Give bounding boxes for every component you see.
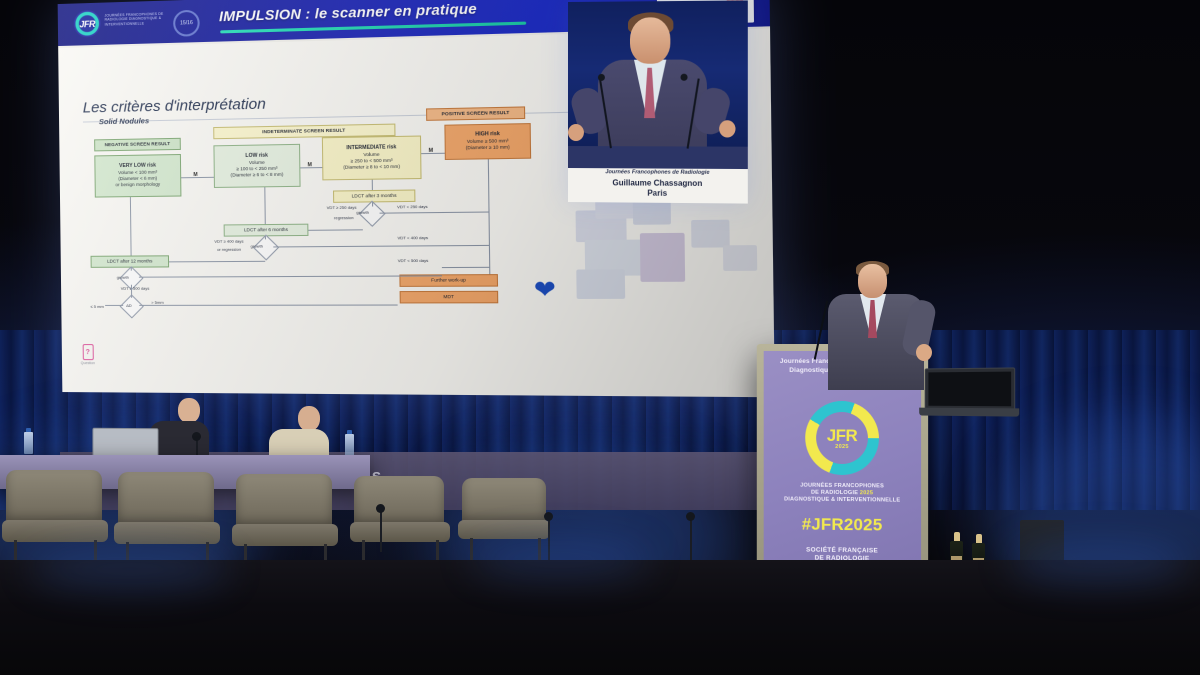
connector-ldct6-to-growth bbox=[308, 229, 362, 230]
video-speaker-head bbox=[630, 17, 670, 64]
connector-ldct12-down bbox=[131, 268, 132, 271]
edge-label-vdt-lt-400: VDT < 400 days bbox=[388, 235, 437, 241]
question-mark-icon: ? bbox=[82, 344, 93, 360]
water-bottle-right bbox=[345, 430, 354, 456]
slide-timer-ring: 15/16 bbox=[173, 10, 200, 37]
jfr-logo-icon: JFR bbox=[74, 10, 101, 38]
jfr-2025-logo-icon: JFR 2025 bbox=[805, 401, 879, 475]
slide-title: Les critères d'interprétation bbox=[83, 95, 266, 116]
edge-label-or-regression: or regression bbox=[203, 247, 254, 252]
floor-microphone-head-2 bbox=[544, 512, 553, 521]
connector-intermediate-down bbox=[372, 180, 373, 190]
flow-section-label: Solid Nodules bbox=[99, 116, 149, 126]
video-microphone-left-head bbox=[598, 74, 605, 81]
edge-label-vdt-lt-250: VDT < 250 days bbox=[388, 204, 437, 210]
question-icon-caption: Question bbox=[80, 361, 96, 365]
panel-microphone-head bbox=[192, 432, 201, 441]
chair-back bbox=[354, 476, 444, 526]
podium-subtitle: JOURNÉES FRANCOPHONES DE RADIOLOGIE 2025… bbox=[764, 482, 921, 504]
chair-seat bbox=[350, 522, 450, 542]
connector-deltad-left bbox=[105, 305, 123, 306]
edge-label-regression-1: regression bbox=[323, 215, 365, 221]
floor-light-pool-left bbox=[30, 548, 230, 590]
floor-light-pool-center bbox=[470, 540, 650, 580]
connector-low-down bbox=[264, 187, 265, 224]
connector-growth3-right bbox=[139, 275, 442, 277]
chair-seat bbox=[2, 520, 108, 542]
connector-deltad-right bbox=[139, 305, 397, 306]
bottle-neck bbox=[976, 534, 982, 543]
video-speaker-right-hand bbox=[719, 120, 735, 137]
connector-growth3-down bbox=[131, 285, 132, 298]
flow-header-negative: NEGATIVE SCREEN RESULT bbox=[94, 138, 181, 152]
decision-delta-d-label: ΔD bbox=[126, 303, 132, 308]
flow-header-positive: POSITIVE SCREEN RESULT bbox=[426, 106, 525, 120]
video-caption-event: Journées Francophones de Radiologie bbox=[568, 169, 748, 176]
decision-growth-3-label: growth bbox=[117, 275, 129, 280]
flow-box-high-risk: HIGH risk Volume ≥ 500 mm³ (Diameter ≥ 1… bbox=[444, 123, 531, 160]
chair-back bbox=[118, 472, 214, 526]
jfr-logo-initials: JFR bbox=[79, 18, 95, 28]
floor-microphone-head-1 bbox=[376, 504, 385, 513]
moderator-1-head bbox=[178, 398, 200, 423]
floor-light-pool-right bbox=[1010, 540, 1190, 584]
connector-intermediate-high bbox=[421, 153, 444, 154]
connector-vdt500-into-spine bbox=[442, 267, 489, 268]
speaker-head bbox=[858, 264, 887, 298]
chair-back bbox=[236, 474, 332, 528]
chair-seat bbox=[232, 524, 338, 546]
podium-hashtag: #JFR2025 bbox=[764, 514, 921, 536]
question-icon: ? Question bbox=[80, 344, 96, 365]
laptop-lid bbox=[925, 367, 1015, 410]
podium-subtitle-prefix: DE RADIOLOGIE bbox=[811, 490, 860, 496]
water-bottle-left bbox=[24, 428, 33, 454]
connector-growth2-right bbox=[273, 245, 441, 247]
flow-box-mdt: MDT bbox=[400, 291, 499, 304]
connector-ldct12-right bbox=[169, 261, 265, 262]
chair-back bbox=[6, 470, 102, 524]
speaker-caption-bar: Journées Francophones de Radiologie Guil… bbox=[568, 168, 748, 204]
slide-timer-value: 15/16 bbox=[180, 20, 193, 26]
floor-microphone-stand-3 bbox=[690, 518, 692, 560]
podium-subtitle-line-3: DIAGNOSTIQUE & INTERVENTIONNELLE bbox=[764, 496, 921, 505]
slide-header-title: IMPULSION : le scanner en pratique bbox=[219, 0, 477, 24]
edge-label-vdt-lt-500: VDT < 500 days bbox=[389, 258, 438, 263]
laptop-keyboard bbox=[919, 408, 1019, 417]
connector-ldct6-down bbox=[265, 236, 266, 239]
chair-seat bbox=[458, 520, 550, 539]
presenter-laptop bbox=[925, 367, 1013, 416]
video-speaker-left-hand bbox=[568, 124, 584, 141]
connector-vdt400-into-spine bbox=[442, 245, 489, 246]
flow-box-low-risk: LOW risk Volume ≥ 100 to < 250 mm³ (Diam… bbox=[213, 144, 300, 188]
impulsion-heart-lung-icon: ❤ bbox=[530, 278, 559, 305]
edge-label-vdt-ge-400: VDT ≥ 400 days bbox=[203, 238, 254, 243]
connector-growth1-right bbox=[380, 212, 442, 213]
edge-label-vdt-ge-500: VDT ≥ 500 days bbox=[111, 286, 159, 291]
bottle-body bbox=[24, 432, 33, 454]
floor-microphone-head-3 bbox=[686, 512, 695, 521]
jfr-logo-caption: JOURNÉES FRANCOPHONES DE RADIOLOGIE DIAG… bbox=[105, 12, 166, 27]
connector-vdt250-into-spine bbox=[441, 212, 488, 213]
video-microphone-right-head bbox=[680, 74, 687, 81]
jfr-logo-initials: JFR bbox=[827, 426, 858, 443]
moderator-2-head bbox=[298, 406, 320, 431]
background-decorative-tiles bbox=[575, 189, 767, 307]
chair-back bbox=[462, 478, 546, 524]
flow-box-very-low-risk: VERY LOW risk Volume < 100 mm³ (Diameter… bbox=[94, 154, 181, 198]
speaker-video-panel: Journées Francophones de Radiologie Guil… bbox=[568, 0, 748, 203]
video-caption-speaker-name: Guillaume Chassagnon bbox=[568, 178, 748, 188]
laptop-screen bbox=[928, 372, 1011, 407]
flow-box-intermediate-risk: INTERMEDIATE risk Volume ≥ 250 to < 500 … bbox=[322, 135, 422, 180]
connector-verylow-down bbox=[130, 197, 132, 255]
bottle-neck bbox=[954, 532, 960, 541]
slide-header-underline bbox=[220, 22, 526, 33]
flow-box-ldct-3-months: LDCT after 3 months bbox=[333, 189, 415, 202]
floor-microphone-stand-1 bbox=[380, 510, 382, 552]
bottle-body bbox=[345, 434, 354, 456]
connector-high-down bbox=[488, 159, 490, 274]
connector-ldct3-down bbox=[372, 202, 373, 206]
podium-subtitle-year: 2025 bbox=[860, 490, 873, 496]
speaker-hand bbox=[916, 344, 932, 361]
edge-label-vdt-ge-250: VDT ≥ 250 days bbox=[319, 205, 365, 211]
speaker-video-feed bbox=[568, 0, 748, 171]
jfr-logo-inner: JFR 2025 bbox=[816, 412, 868, 464]
video-caption-speaker-city: Paris bbox=[568, 188, 748, 198]
chair-seat bbox=[114, 522, 220, 544]
connector-low-intermediate bbox=[300, 167, 322, 168]
moderator-1 bbox=[168, 398, 209, 455]
jfr-logo-year: 2025 bbox=[835, 443, 849, 449]
conference-hall-scene: Medical International Congress JFR JOURN… bbox=[0, 0, 1200, 675]
